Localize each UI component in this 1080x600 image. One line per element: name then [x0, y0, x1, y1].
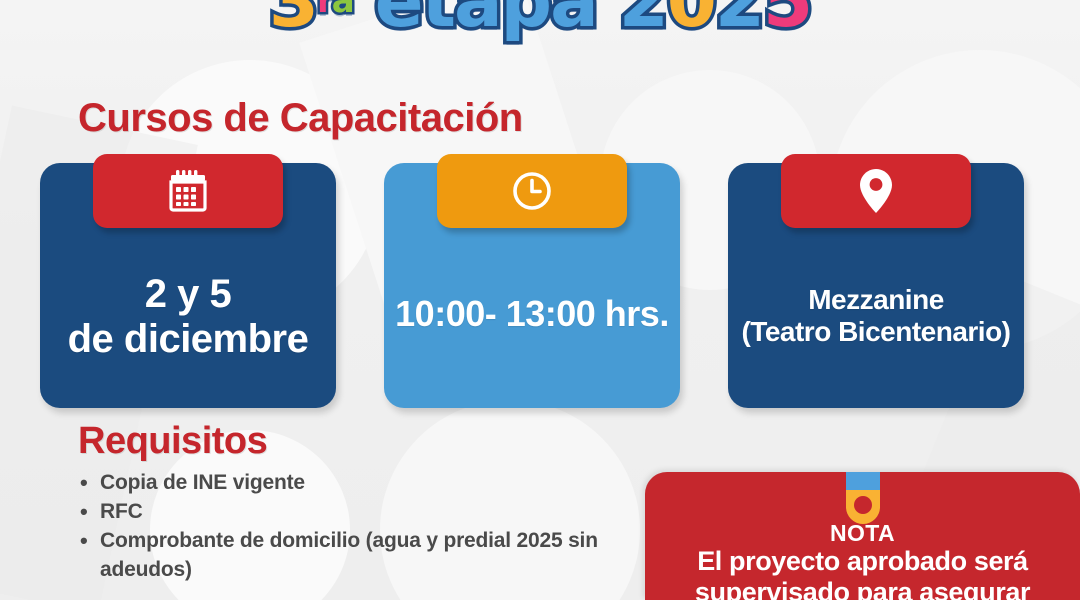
title-segment-3: 3 — [269, 0, 317, 37]
date-line-1: 2 y 5 — [68, 272, 309, 317]
calendar-icon — [168, 170, 208, 212]
time-badge — [437, 154, 627, 228]
requisitos-list: Copia de INE vigente RFC Comprobante de … — [78, 469, 638, 585]
time-card-text: 10:00- 13:00 hrs. — [385, 294, 679, 334]
list-item: Comprobante de domicilio (agua y predial… — [78, 527, 638, 585]
section-heading-cursos: Cursos de Capacitación — [78, 96, 523, 141]
place-line-1: Mezzanine — [741, 284, 1010, 315]
nota-title: NOTA — [645, 520, 1080, 547]
info-card-time: 10:00- 13:00 hrs. — [384, 163, 680, 408]
poster-title: 3raetapa2025 — [0, 0, 1080, 36]
place-line-2: (Teatro Bicentenario) — [741, 316, 1010, 347]
title-segment-etapa: etapa — [375, 0, 597, 37]
title-segment-r: r — [317, 0, 332, 18]
date-card-text: 2 y 5 de diciembre — [58, 272, 319, 362]
location-pin-icon — [859, 168, 893, 214]
requisitos-section: Requisitos Copia de INE vigente RFC Comp… — [78, 420, 638, 585]
nota-body: El proyecto aprobado será supervisado pa… — [645, 546, 1080, 600]
info-cards-row: 2 y 5 de diciembre 10:00- 13:00 hrs. — [0, 163, 1080, 408]
title-segment-year-0: 0 — [667, 0, 715, 37]
title-segment-year-5: 5 — [763, 0, 811, 37]
list-item: RFC — [78, 498, 638, 527]
place-card-text: Mezzanine (Teatro Bicentenario) — [731, 284, 1020, 347]
magnet-pin-icon — [846, 472, 880, 524]
requisitos-title: Requisitos — [78, 420, 638, 463]
info-card-date: 2 y 5 de diciembre — [40, 163, 336, 408]
time-line-1: 10:00- 13:00 hrs. — [395, 294, 669, 334]
clock-icon — [510, 169, 554, 213]
nota-panel: NOTA El proyecto aprobado será supervisa… — [645, 472, 1080, 600]
info-card-place: Mezzanine (Teatro Bicentenario) — [728, 163, 1024, 408]
title-segment-a: a — [332, 0, 353, 18]
poster-canvas: 3raetapa2025 Cursos de Capacitación — [0, 0, 1080, 600]
date-badge — [93, 154, 283, 228]
list-item: Copia de INE vigente — [78, 469, 638, 498]
pin-hole — [854, 496, 872, 514]
title-segment-year-2b: 2 — [715, 0, 763, 37]
title-segment-year-2: 2 — [619, 0, 667, 37]
date-line-2: de diciembre — [68, 317, 309, 362]
place-badge — [781, 154, 971, 228]
